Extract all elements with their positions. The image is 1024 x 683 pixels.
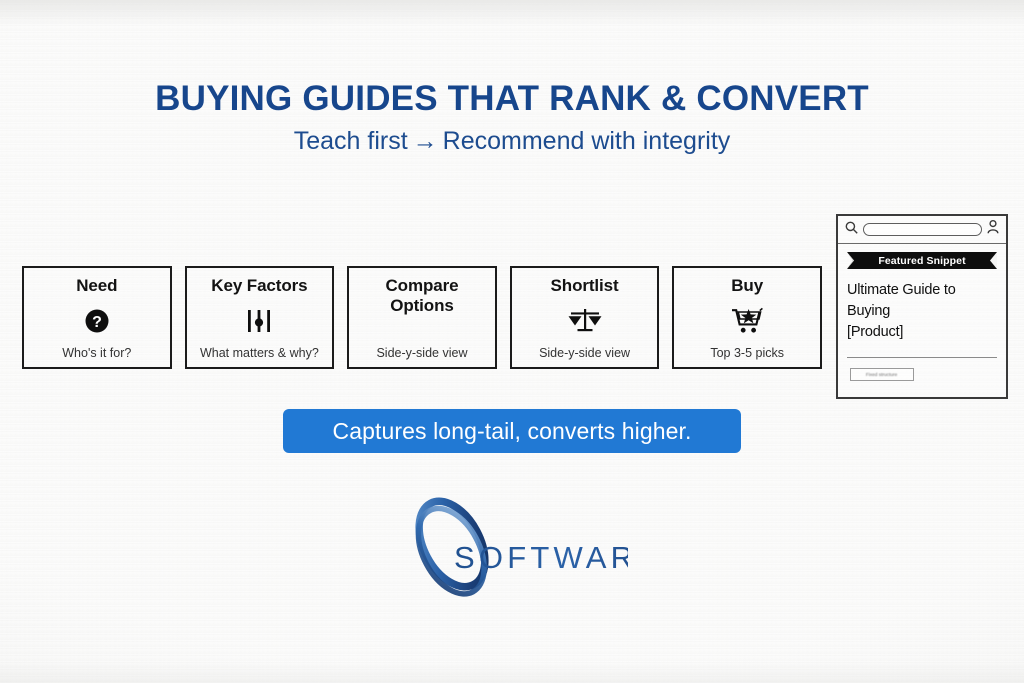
search-icon	[845, 221, 858, 239]
serp-top-bar	[838, 216, 1006, 244]
logo-wordmark: SOFTWARE	[454, 540, 628, 575]
subtitle-part-teach: Teach first	[294, 127, 408, 155]
step-title: Shortlist	[551, 276, 619, 296]
step-card-need[interactable]: Need ? Who's it for?	[22, 266, 172, 369]
step-caption: What matters & why?	[200, 346, 319, 367]
step-caption: Top 3-5 picks	[710, 346, 784, 367]
serp-headline: Ultimate Guide to Buying [Product]	[847, 280, 997, 343]
brand-logo: SOFTWARE	[396, 492, 628, 600]
step-card-key-factors[interactable]: Key Factors What matters & why?	[185, 266, 335, 369]
subtitle-part-recommend: Recommend with integrity	[443, 127, 731, 155]
page-subtitle: Teach first→Recommend with integrity	[0, 124, 1024, 158]
step-title: Buy	[731, 276, 763, 296]
balance-scales-icon	[512, 296, 658, 346]
step-title: Key Factors	[211, 276, 307, 296]
serp-headline-line-2: Buying	[847, 301, 997, 322]
person-icon[interactable]	[987, 220, 999, 239]
step-card-shortlist[interactable]: Shortlist Side-y-side view	[510, 266, 660, 369]
shopping-cart-star-icon	[674, 296, 820, 346]
slide-content: BUYING GUIDES THAT RANK & CONVERT Teach …	[0, 0, 1024, 683]
serp-headline-line-1: Ultimate Guide to	[847, 280, 997, 301]
slide-canvas: BUYING GUIDES THAT RANK & CONVERT Teach …	[0, 0, 1024, 683]
funnel-steps-row: Need ? Who's it for? Key Factors	[22, 266, 822, 369]
serp-headline-line-3: [Product]	[847, 322, 997, 343]
step-title-line-2: Options	[390, 296, 454, 316]
svg-text:?: ?	[92, 314, 102, 331]
serp-structure-chip[interactable]: Fixed structure	[850, 368, 914, 381]
step-caption: Who's it for?	[62, 346, 131, 367]
ellipse-swoosh-logo-icon: SOFTWARE	[396, 492, 628, 600]
page-title: BUYING GUIDES THAT RANK & CONVERT	[0, 78, 1024, 120]
sliders-icon	[187, 296, 333, 346]
question-mark-circle-icon: ?	[24, 296, 170, 346]
featured-snippet-ribbon: Featured Snippet	[847, 252, 997, 269]
step-caption: Side-y-side view	[539, 346, 630, 367]
step-title: Need	[76, 276, 117, 296]
step-caption: Side-y-side view	[376, 346, 467, 367]
divider	[847, 357, 997, 358]
step-card-buy[interactable]: Buy Top 3-5 picks	[672, 266, 822, 369]
step-card-compare-options[interactable]: Compare Options Side-y-side view	[347, 266, 497, 369]
search-input[interactable]	[863, 223, 982, 236]
cta-banner: Captures long-tail, converts higher.	[283, 409, 741, 453]
serp-mockup: Featured Snippet Ultimate Guide to Buyin…	[836, 214, 1008, 399]
serp-chip-label: Fixed structure	[866, 372, 897, 378]
status-badge: Featured Snippet	[878, 255, 965, 267]
arrow-right-icon: →	[408, 127, 443, 155]
serp-result-body: Featured Snippet Ultimate Guide to Buyin…	[838, 244, 1006, 397]
step-title-line-1: Compare	[385, 276, 458, 296]
